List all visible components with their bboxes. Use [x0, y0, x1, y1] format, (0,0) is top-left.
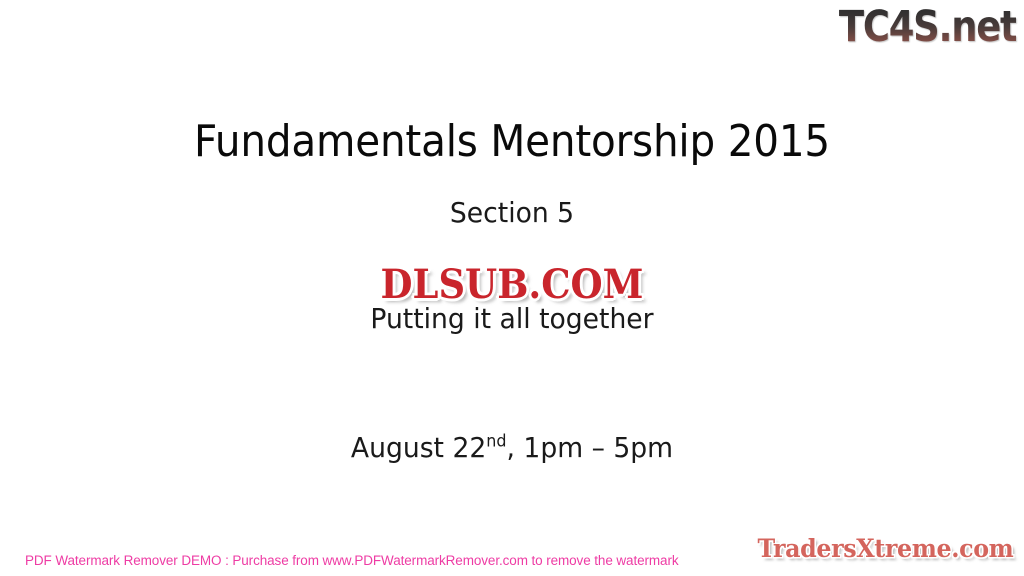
tc4s-brand-logo[interactable]: TC4S.net [838, 2, 1016, 52]
tagline-text: Putting it all together [26, 300, 999, 338]
pdf-watermark-footer: PDF Watermark Remover DEMO : Purchase fr… [25, 552, 679, 569]
tradersxtreme-brand-logo[interactable]: TradersXtreme.com [757, 534, 1013, 564]
date-ordinal-suffix: nd [486, 431, 506, 451]
date-line: August 22nd, 1pm – 5pm [26, 429, 999, 467]
date-prefix: August 22 [351, 431, 486, 464]
date-time-range: , 1pm – 5pm [507, 431, 674, 464]
page-title: Fundamentals Mentorship 2015 [41, 115, 983, 169]
section-subtitle: Section 5 [26, 194, 999, 232]
slide-canvas: TC4S.net Fundamentals Mentorship 2015 Se… [0, 0, 1024, 576]
